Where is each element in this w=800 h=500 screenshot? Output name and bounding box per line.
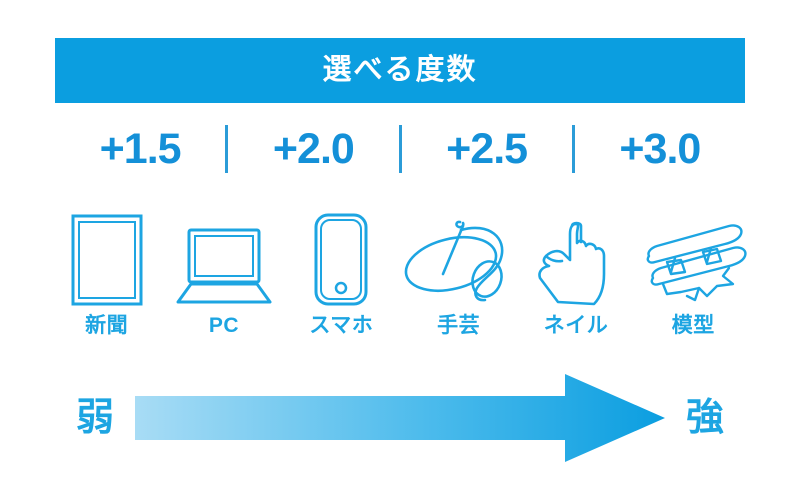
use-case-label: 模型: [672, 315, 715, 336]
pointing-hand-icon: [532, 212, 620, 307]
needle-thread-icon: [403, 212, 515, 307]
diopter-value-label: +2.0: [273, 128, 354, 171]
diopter-infographic: 選べる度数 +1.5 +2.0 +2.5 +3.0 新聞: [0, 0, 800, 500]
use-case-label: PC: [209, 315, 239, 336]
use-case-smartphone[interactable]: スマホ: [283, 212, 400, 336]
diopter-value-row: +1.5 +2.0 +2.5 +3.0: [55, 118, 745, 180]
diopter-value-label: +3.0: [619, 128, 700, 171]
use-case-pc[interactable]: PC: [165, 212, 282, 336]
scale-strong-label: 強: [665, 399, 745, 437]
diopter-option-3[interactable]: +2.5: [402, 128, 572, 171]
use-case-handicraft[interactable]: 手芸: [400, 212, 517, 336]
diopter-value-label: +1.5: [100, 128, 181, 171]
diopter-value-label: +2.5: [446, 128, 527, 171]
diopter-option-1[interactable]: +1.5: [55, 128, 225, 171]
use-case-nail[interactable]: ネイル: [517, 212, 634, 336]
model-airplane-icon: [637, 212, 749, 307]
use-case-model[interactable]: 模型: [635, 212, 752, 336]
right-arrow-gradient-icon: [135, 372, 665, 464]
diopter-option-2[interactable]: +2.0: [228, 128, 398, 171]
use-case-label: 手芸: [437, 315, 480, 336]
use-case-label: 新聞: [85, 315, 128, 336]
laptop-icon: [175, 212, 273, 307]
smartphone-icon: [312, 212, 370, 307]
diopter-option-4[interactable]: +3.0: [575, 128, 745, 171]
header-banner: 選べる度数: [55, 38, 745, 103]
use-case-icon-row: 新聞 PC スマホ: [48, 196, 752, 336]
page-title: 選べる度数: [322, 56, 477, 85]
use-case-newspaper[interactable]: 新聞: [48, 212, 165, 336]
use-case-label: ネイル: [544, 315, 609, 336]
strength-scale: 弱 強: [55, 372, 745, 464]
scale-weak-label: 弱: [55, 399, 135, 437]
use-case-label: スマホ: [309, 315, 373, 336]
newspaper-icon: [70, 212, 144, 307]
